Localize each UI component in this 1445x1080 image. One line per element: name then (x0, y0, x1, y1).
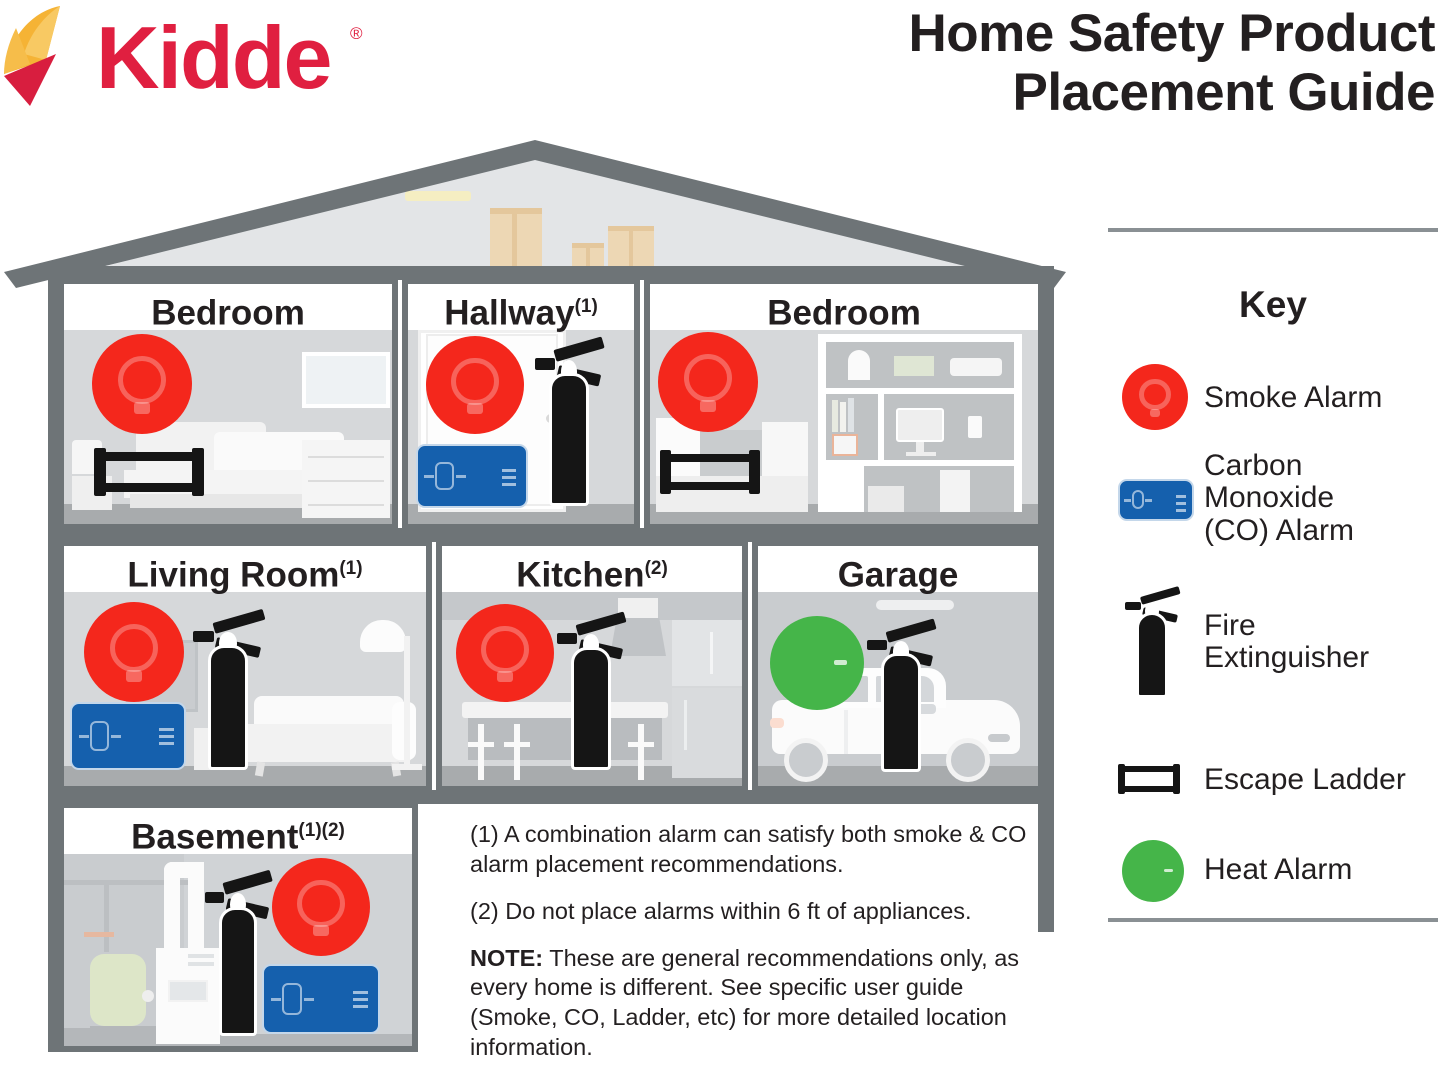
box-decor (894, 356, 934, 376)
key-item-smoke-alarm: Smoke Alarm (1108, 356, 1438, 440)
scene-garage (758, 592, 1038, 786)
pencil-cup (968, 416, 982, 438)
scene-bedroom-2 (650, 330, 1038, 524)
monitor-stand (916, 442, 924, 452)
smoke-alarm-icon (658, 332, 758, 432)
room-label-hallway: Hallway(1) (408, 284, 634, 330)
photo-frame (832, 434, 858, 456)
room-label-bedroom-1: Bedroom (64, 284, 392, 330)
key-label-escape-ladder: Escape Ladder (1204, 764, 1406, 796)
stool-3-rung (628, 742, 654, 747)
dresser-line-1 (308, 456, 384, 458)
knickknacks (950, 358, 1002, 376)
key-label-fire-extinguisher: Fire Extinguisher (1204, 610, 1369, 675)
garage-light (876, 600, 954, 610)
smoke-alarm-icon (84, 602, 184, 702)
dresser (302, 440, 390, 518)
car-door-seam (844, 710, 848, 754)
room-label-garage: Garage (758, 546, 1038, 592)
stool-1-rung (468, 742, 494, 747)
book-1 (832, 400, 838, 432)
kidde-logo: Kidde ® (0, 2, 380, 114)
stool (940, 470, 970, 512)
smoke-alarm-icon (456, 604, 554, 702)
stool-2-rung (504, 742, 530, 747)
key-item-co-alarm: Carbon Monoxide (CO) Alarm (1108, 450, 1438, 547)
scene-bedroom-1 (64, 330, 392, 524)
stool-3-leg (638, 724, 644, 780)
sofa-seat (242, 724, 412, 762)
key-label-heat-alarm: Heat Alarm (1204, 854, 1352, 886)
book-2 (840, 402, 846, 432)
utility-box-1 (64, 972, 90, 994)
room-label-bedroom-2: Bedroom (650, 284, 1038, 330)
stool-1-leg (478, 724, 484, 780)
co-alarm-icon (70, 702, 186, 770)
water-tank (90, 954, 146, 1026)
pipe-vertical (104, 882, 109, 952)
room-hallway: Hallway(1) (402, 278, 640, 530)
lamp-decor (848, 350, 870, 380)
car-wheel-front (946, 738, 990, 782)
fire-extinguisher-icon (192, 610, 264, 770)
floor-lamp-pole (404, 636, 410, 766)
car-headlight (988, 734, 1010, 742)
key-title: Key (1108, 284, 1438, 326)
waste-bin (868, 486, 904, 512)
key-legend: Key Smoke Alarm Carbon Monoxide (CO) Ala… (1108, 228, 1438, 928)
registered-trademark-icon: ® (350, 24, 363, 44)
kidde-wordmark: Kidde (96, 8, 330, 108)
footnote-note-label: NOTE: (470, 945, 543, 971)
key-icon-co-alarm (1108, 457, 1204, 541)
dresser-line-2 (308, 480, 384, 482)
room-label-living-room: Living Room(1) (64, 546, 426, 592)
room-basement: Basement(1)(2) (58, 802, 418, 1052)
key-icon-heat-alarm (1108, 828, 1204, 912)
cabinet-handle (710, 632, 713, 674)
pipe-fitting (84, 932, 114, 937)
scene-basement (64, 854, 412, 1046)
footnote-2: (2) Do not place alarms within 6 ft of a… (470, 897, 1030, 927)
scene-kitchen (442, 592, 742, 786)
fridge-handle (684, 700, 687, 750)
smoke-alarm-icon (272, 858, 370, 956)
co-alarm-icon (262, 964, 380, 1034)
smoke-alarm-icon (92, 334, 192, 434)
scene-hallway (408, 330, 634, 524)
car-taillight (770, 718, 784, 728)
valve-knob (142, 990, 154, 1002)
room-garage: Garage (752, 540, 1044, 792)
room-label-basement: Basement(1)(2) (64, 808, 412, 854)
dresser-line-3 (308, 504, 384, 506)
co-alarm-icon (416, 444, 528, 508)
fire-extinguisher-icon (866, 620, 936, 772)
page-title-line2: Placement Guide (775, 63, 1435, 122)
footnotes: (1) A combination alarm can satisfy both… (470, 820, 1030, 1080)
key-icon-fire-extinguisher (1108, 600, 1204, 684)
key-label-smoke-alarm: Smoke Alarm (1204, 382, 1382, 414)
safety-placement-infographic: Kidde ® Home Safety Product Placement Gu… (0, 0, 1445, 1054)
monitor-base (906, 452, 936, 456)
key-icon-smoke-alarm (1108, 356, 1204, 440)
key-item-heat-alarm: Heat Alarm (1108, 828, 1438, 912)
smoke-alarm-icon (426, 336, 524, 434)
key-item-fire-extinguisher: Fire Extinguisher (1108, 600, 1438, 684)
scene-living-room (64, 592, 426, 786)
fire-extinguisher-icon (534, 336, 604, 506)
book-3 (848, 398, 854, 432)
car-wheel-rear (784, 738, 828, 782)
heat-alarm-icon (770, 616, 864, 710)
escape-ladder-icon (94, 448, 204, 496)
fire-extinguisher-icon (204, 870, 272, 1036)
monitor (896, 408, 944, 442)
key-icon-escape-ladder (1108, 738, 1204, 822)
key-divider-bottom (1108, 918, 1438, 922)
footnote-note-text: These are general recommendations only, … (470, 945, 1019, 1061)
room-living-room: Living Room(1) (58, 540, 432, 792)
room-bedroom-1: Bedroom (58, 278, 398, 530)
picture-frame (302, 352, 390, 408)
footnote-note: NOTE: These are general recommendations … (470, 944, 1030, 1063)
fire-extinguisher-icon (556, 612, 626, 770)
room-bedroom-2: Bedroom (644, 278, 1044, 530)
room-label-kitchen: Kitchen(2) (442, 546, 742, 592)
utility-box-2 (64, 1002, 90, 1028)
page-title: Home Safety Product Placement Guide (775, 4, 1435, 123)
furnace-flue-elbow (164, 862, 204, 878)
key-divider-top (1108, 228, 1438, 232)
key-item-escape-ladder: Escape Ladder (1108, 738, 1438, 822)
footnote-1: (1) A combination alarm can satisfy both… (470, 820, 1030, 880)
page-title-line1: Home Safety Product (775, 4, 1435, 63)
room-kitchen: Kitchen(2) (436, 540, 748, 792)
key-label-co-alarm: Carbon Monoxide (CO) Alarm (1204, 450, 1354, 547)
furnace-panel (168, 980, 208, 1002)
stool-2-leg (514, 724, 520, 780)
kidde-logo-mark (0, 2, 100, 112)
floor-lamp-base (392, 764, 422, 770)
escape-ladder-icon (660, 450, 760, 494)
